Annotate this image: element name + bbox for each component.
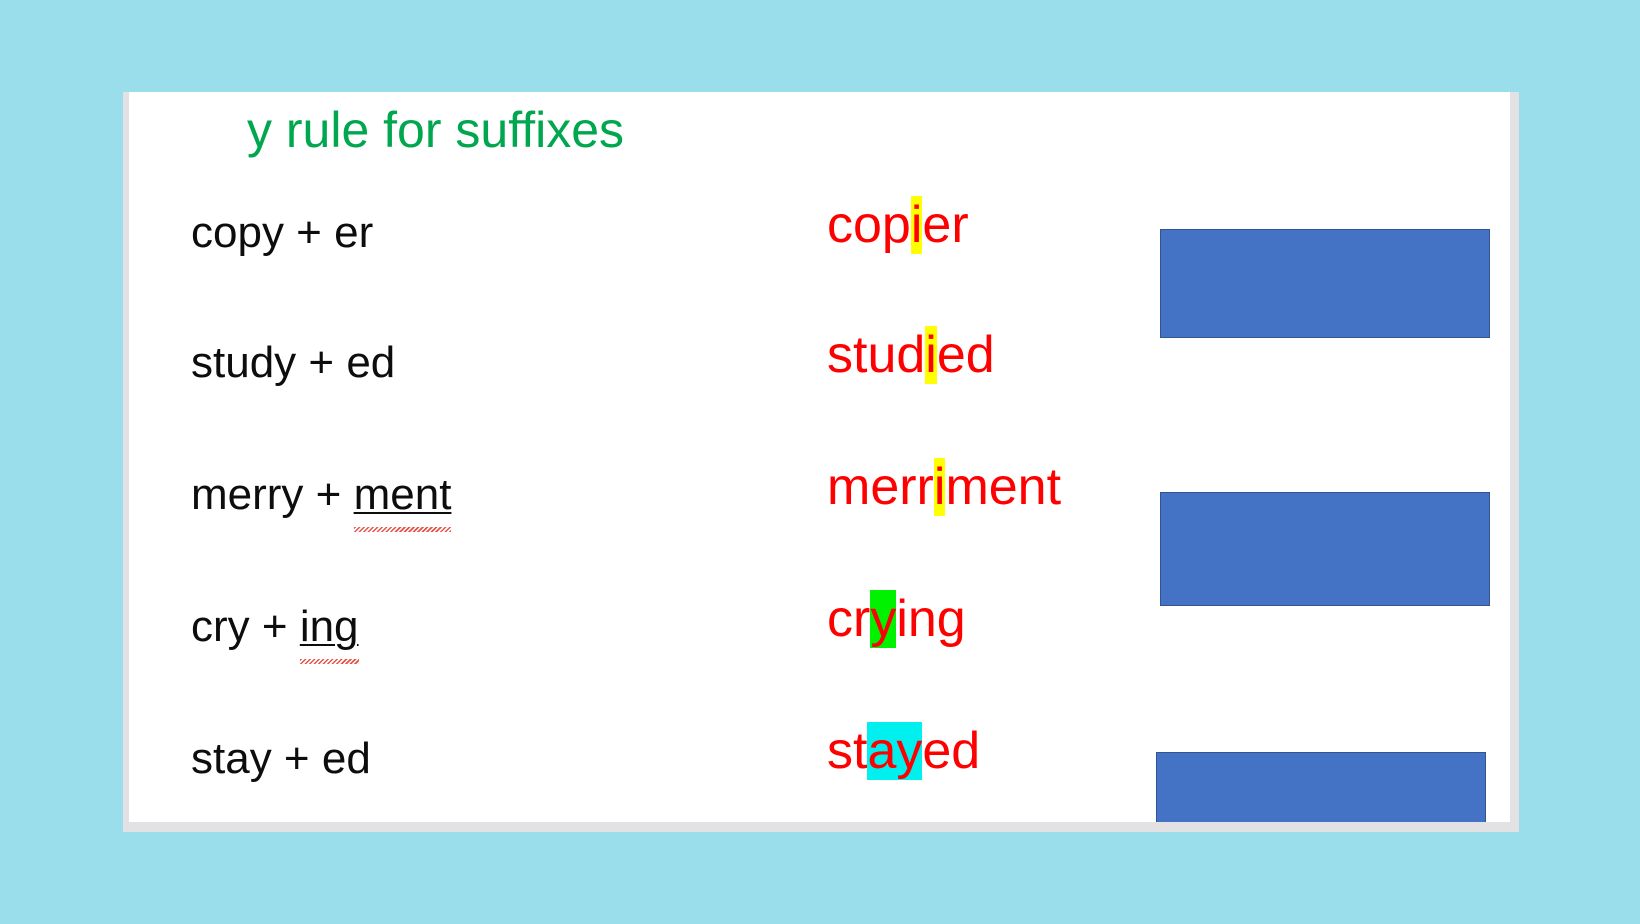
result-suffix: ing xyxy=(896,590,965,648)
equation-text: merry + ment xyxy=(191,470,451,521)
equation-suffix: ed xyxy=(346,338,395,387)
result-prefix: cr xyxy=(827,590,870,648)
equation-plus: + xyxy=(296,338,346,387)
equation-text: study + ed xyxy=(191,338,395,389)
equation-suffix-misspelled: ing xyxy=(300,602,359,653)
result-highlighted-letter: ay xyxy=(867,722,922,780)
result-highlighted-letter: i xyxy=(934,458,946,516)
result-prefix: stud xyxy=(827,326,925,384)
suffix-row: merry + ment merriment xyxy=(129,430,1510,560)
result-word: studied xyxy=(827,326,995,386)
equation-plus: + xyxy=(284,208,334,257)
equation-suffix: ed xyxy=(322,734,371,783)
equation-suffix: er xyxy=(334,208,373,257)
result-word: copier xyxy=(827,196,969,256)
equation-base: study xyxy=(191,338,296,387)
suffix-row: stay + ed stayed xyxy=(129,694,1510,822)
equation-base: merry xyxy=(191,470,303,519)
equation-plus: + xyxy=(303,470,353,519)
slide-stage: y rule for suffixes copy + er copier stu… xyxy=(0,0,1640,924)
equation-base: copy xyxy=(191,208,284,257)
result-word: merriment xyxy=(827,458,1061,518)
equation-text: stay + ed xyxy=(191,734,371,785)
result-suffix: ed xyxy=(922,722,980,780)
slide-card: y rule for suffixes copy + er copier stu… xyxy=(129,92,1510,822)
result-highlighted-letter: y xyxy=(870,590,896,648)
result-highlighted-letter: i xyxy=(925,326,937,384)
suffix-row: copy + er copier xyxy=(129,168,1510,298)
suffix-row: cry + ing crying xyxy=(129,562,1510,692)
equation-text: copy + er xyxy=(191,208,373,259)
result-suffix: ment xyxy=(945,458,1061,516)
equation-plus: + xyxy=(272,734,322,783)
result-word: stayed xyxy=(827,722,980,782)
result-prefix: st xyxy=(827,722,867,780)
result-prefix: cop xyxy=(827,196,911,254)
equation-base: cry xyxy=(191,602,250,651)
result-suffix: ed xyxy=(937,326,995,384)
equation-suffix-misspelled: ment xyxy=(354,470,452,521)
result-prefix: merr xyxy=(827,458,934,516)
equation-text: cry + ing xyxy=(191,602,359,653)
result-word: crying xyxy=(827,590,966,650)
equation-base: stay xyxy=(191,734,272,783)
result-suffix: er xyxy=(922,196,968,254)
page-title: y rule for suffixes xyxy=(247,103,624,158)
result-highlighted-letter: i xyxy=(911,196,923,254)
suffix-row: study + ed studied xyxy=(129,298,1510,428)
equation-plus: + xyxy=(250,602,300,651)
